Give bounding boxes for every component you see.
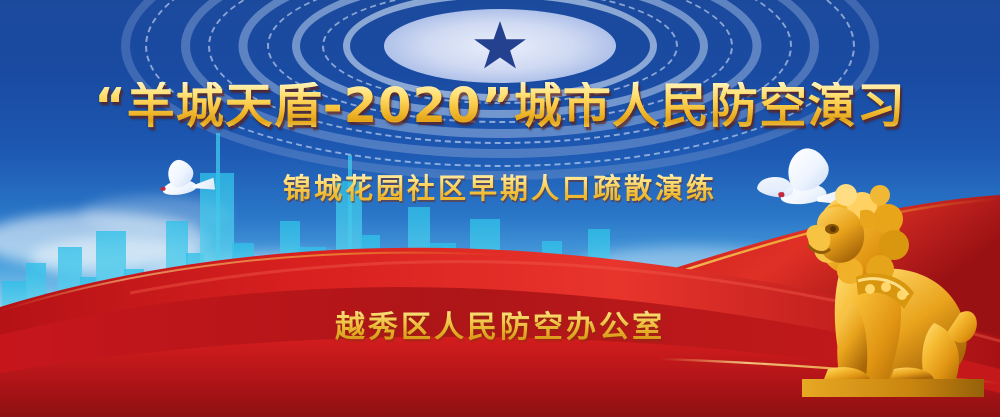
page-subtitle: 锦城花园社区早期人口疏散演练 [0,167,1000,207]
page-title: “羊城天盾-2020”城市人民防空演习 [0,82,1000,130]
golden-guardian-lion-statue [784,173,994,403]
ripple-core-glow [384,9,616,83]
five-pointed-star-icon [473,21,527,73]
organization-name: 越秀区人民防空办公室 [0,302,1000,346]
air-defense-drill-banner: “羊城天盾-2020”城市人民防空演习 锦城花园社区早期人口疏散演练 越秀区人民… [0,0,1000,417]
